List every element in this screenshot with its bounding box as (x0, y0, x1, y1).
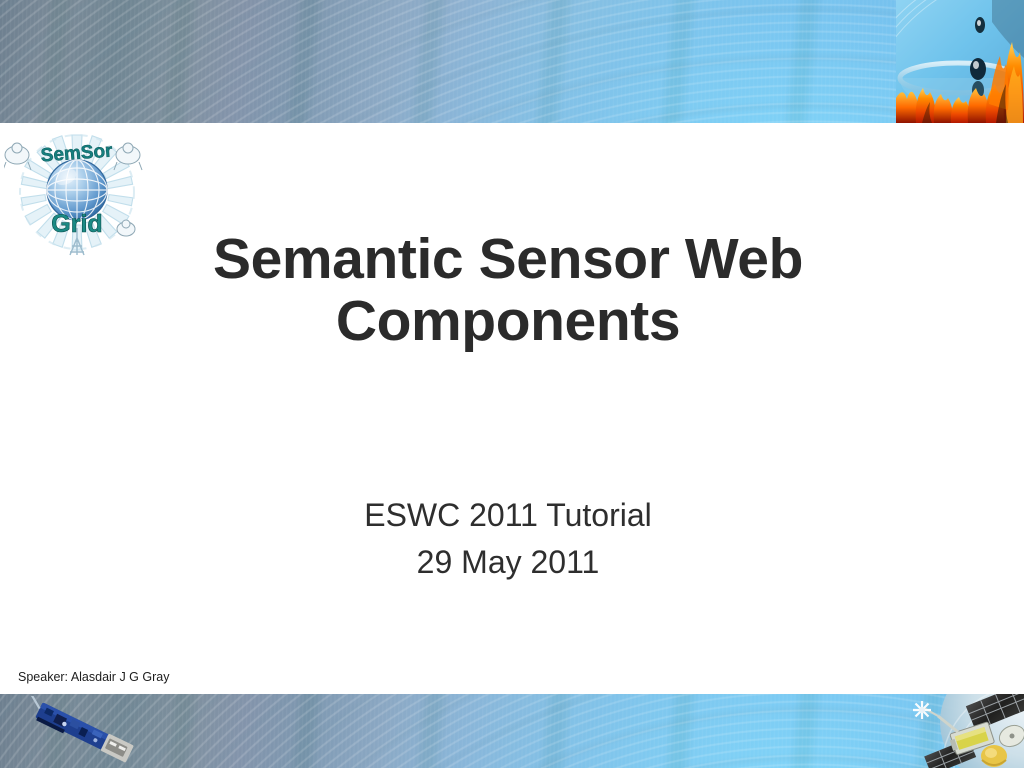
subtitle-line-2: 29 May 2011 (150, 539, 866, 586)
title-line-1: Semantic Sensor Web (150, 228, 866, 290)
title-line-2: Components (150, 290, 866, 352)
satellite-over-earth-photo (884, 694, 1024, 768)
subtitle-line-1: ESWC 2011 Tutorial (150, 492, 866, 539)
logo-text-bottom: Grid (51, 210, 102, 238)
slide-subtitle: ESWC 2011 Tutorial 29 May 2011 (150, 492, 866, 586)
top-decorative-banner (0, 0, 1024, 123)
usb-sensor-mote-photo (6, 696, 156, 766)
banner-vertical-streaks (0, 0, 1024, 123)
presentation-slide: SemSor Grid Semantic Sensor Web Componen… (0, 0, 1024, 768)
speaker-credit: Speaker: Alasdair J G Gray (18, 670, 169, 685)
page-title: Semantic Sensor Web Components (150, 228, 866, 352)
semsorgrid-logo: SemSor Grid (4, 128, 150, 256)
fire-and-water-droplets-photo (896, 0, 1024, 123)
